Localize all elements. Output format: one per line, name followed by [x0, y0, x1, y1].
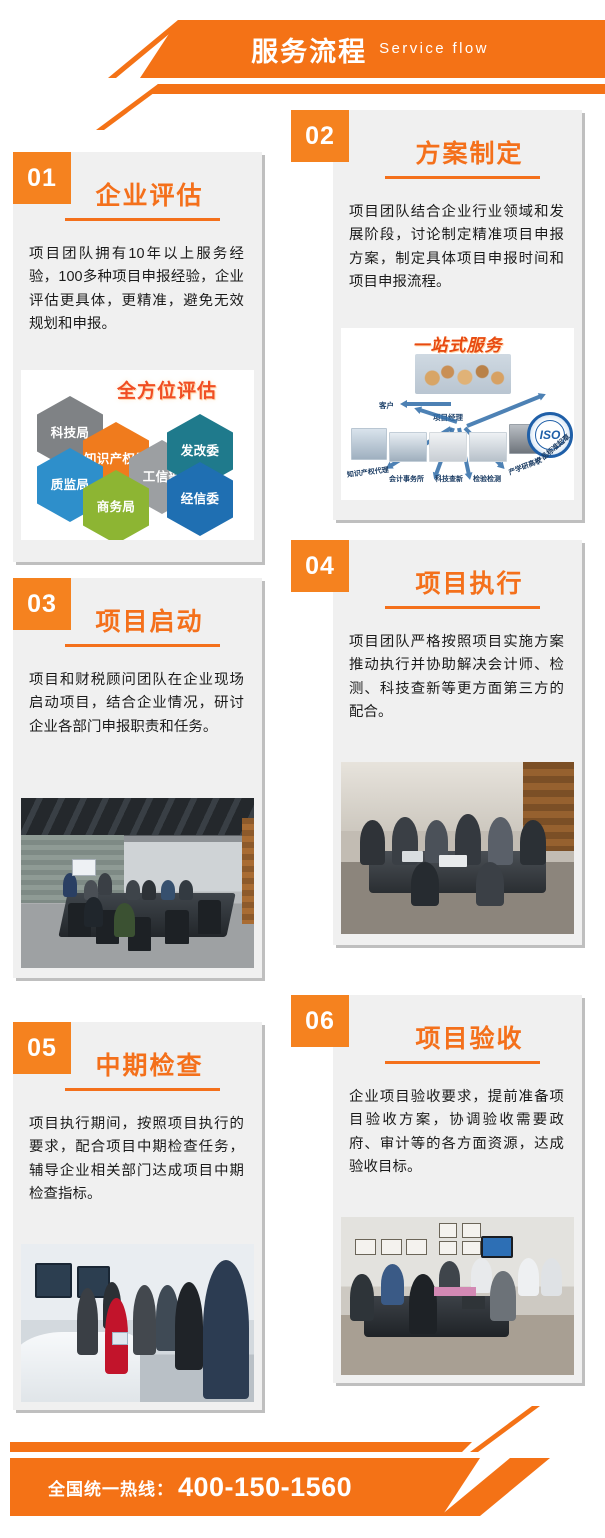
- oss-thumb-3: [429, 432, 467, 462]
- step-number-06: 06: [305, 1007, 335, 1036]
- oss-label-4: 检验检测: [473, 474, 501, 484]
- photo-conference-06: [341, 1217, 574, 1375]
- card-body-06: 企业项目验收要求，提前准备项目验收方案，协调验收需要政府、审计等的各方面资源，达…: [349, 1086, 564, 1179]
- hotline-label: 全国统一热线：: [48, 1475, 174, 1500]
- step-card-05[interactable]: 中期检查 项目执行期间，按照项目执行的要求，配合项目中期检查任务，辅导企业相关部…: [13, 1022, 262, 1410]
- step-badge-06: 06: [291, 995, 349, 1047]
- photo-meeting-room-03: [21, 798, 254, 968]
- step-card-03[interactable]: 项目启动 项目和财税顾问团队在企业现场启动项目，结合企业情况，研讨企业各部门申报…: [13, 578, 262, 978]
- step-card-02[interactable]: 方案制定 项目团队结合企业行业领域和发展阶段，讨论制定精准项目申报方案，制定具体…: [333, 110, 582, 520]
- card-title-01: 企业评估: [47, 172, 252, 212]
- step-number-02: 02: [305, 122, 335, 151]
- oss-label-3: 科技查新: [435, 474, 463, 484]
- oss-node-kehu: 客户: [379, 400, 394, 411]
- card-body-01: 项目团队拥有10年以上服务经验，100多种项目申报经验，企业评估更具体，更精准，…: [29, 243, 244, 336]
- header-stripe: [148, 84, 605, 94]
- title-rule-04: [385, 606, 540, 609]
- card-title-06: 项目验收: [367, 1015, 572, 1055]
- hotline-number[interactable]: 400-150-1560: [178, 1472, 352, 1503]
- title-rule-05: [65, 1088, 220, 1091]
- step-number-04: 04: [305, 552, 335, 581]
- footer-stripe: [10, 1442, 472, 1452]
- step-badge-01: 01: [13, 152, 71, 204]
- page-subtitle: Service flow: [379, 40, 489, 59]
- oss-arrow-1: [405, 402, 451, 406]
- card-body-04: 项目团队严格按照项目实施方案推动执行并协助解决会计师、检测、科技查新等更方面第三…: [349, 631, 564, 724]
- title-rule-03: [65, 644, 220, 647]
- hex-diagram-01: 全方位评估 科技局 知识产权局 质监局 工信部 发改委 商务局 经信委: [21, 370, 254, 540]
- step-number-03: 03: [27, 590, 57, 619]
- oss-thumb-4: [469, 432, 507, 462]
- card-title-03: 项目启动: [47, 598, 252, 638]
- card-title-05: 中期检查: [47, 1042, 252, 1082]
- page-footer: 全国统一热线： 400-150-1560: [0, 1406, 605, 1516]
- photo-meeting-table-04: [341, 762, 574, 934]
- step-badge-03: 03: [13, 578, 71, 630]
- step-badge-05: 05: [13, 1022, 71, 1074]
- step-card-04[interactable]: 项目执行 项目团队严格按照项目实施方案推动执行并协助解决会计师、检测、科技查新等…: [333, 540, 582, 945]
- page-header: 服务流程 Service flow: [0, 0, 605, 110]
- one-stop-service-diagram: 一站式服务 客户 项目经理 ISO 知识产权代理 会计事务所 科技查新 检验检测…: [341, 328, 574, 500]
- step-card-06[interactable]: 项目验收 企业项目验收要求，提前准备项目验收方案，协调验收需要政府、审计等的各方…: [333, 995, 582, 1383]
- step-number-05: 05: [27, 1034, 57, 1063]
- hex-diagram-title: 全方位评估: [117, 376, 217, 403]
- title-rule-02: [385, 176, 540, 179]
- hotline-group[interactable]: 全国统一热线： 400-150-1560: [48, 1458, 352, 1516]
- oss-thumb-2: [389, 432, 427, 462]
- step-card-01[interactable]: 企业评估 项目团队拥有10年以上服务经验，100多种项目申报经验，企业评估更具体…: [13, 152, 262, 562]
- oss-label-2: 会计事务所: [389, 474, 424, 484]
- oss-thumb-1: [351, 428, 387, 460]
- oss-label-1: 知识产权代理: [346, 465, 389, 480]
- card-title-02: 方案制定: [367, 130, 572, 170]
- card-body-02: 项目团队结合企业行业领域和发展阶段，讨论制定精准项目申报方案，制定具体项目申报时…: [349, 201, 564, 294]
- photo-lobby-visit-05: [21, 1244, 254, 1402]
- oss-team-photo: [415, 354, 511, 394]
- card-title-04: 项目执行: [367, 560, 572, 600]
- step-number-01: 01: [27, 164, 57, 193]
- page-title: 服务流程: [251, 30, 367, 69]
- card-body-03: 项目和财税顾问团队在企业现场启动项目，结合企业情况，研讨企业各部门申报职责和任务…: [29, 669, 244, 739]
- header-title-group: 服务流程 Service flow: [150, 20, 590, 78]
- oss-title: 一站式服务: [341, 331, 574, 356]
- title-rule-06: [385, 1061, 540, 1064]
- card-body-05: 项目执行期间，按照项目执行的要求，配合项目中期检查任务，辅导企业相关部门达成项目…: [29, 1113, 244, 1206]
- step-badge-04: 04: [291, 540, 349, 592]
- infographic-page: 服务流程 Service flow 企业评估 项目团队拥有10年以上服务经验，1…: [0, 0, 605, 1538]
- step-badge-02: 02: [291, 110, 349, 162]
- title-rule-01: [65, 218, 220, 221]
